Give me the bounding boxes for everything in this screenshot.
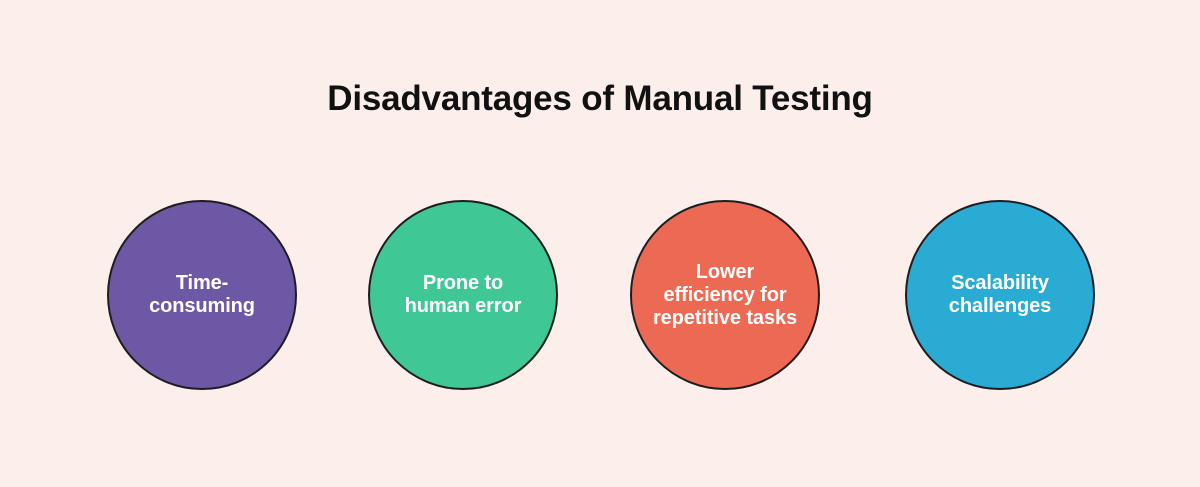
bubble-label-line: consuming	[127, 295, 277, 318]
bubble-label-line: repetitive tasks	[650, 307, 800, 330]
bubble-label-line: Lower	[650, 261, 800, 284]
bubble-label-line: Prone to	[388, 272, 538, 295]
infographic-canvas: Disadvantages of Manual Testing Time- co…	[0, 0, 1200, 487]
bubble-label-line: human error	[388, 295, 538, 318]
bubble-label-line: efficiency for	[650, 284, 800, 307]
bubble-label: Lower efficiency for repetitive tasks	[650, 261, 800, 330]
bubble-label-line: Time-	[127, 272, 277, 295]
bubble-row: Time- consuming Prone to human error Low…	[0, 200, 1200, 392]
bubble-lower-efficiency-for-repetitive-tasks: Lower efficiency for repetitive tasks	[630, 200, 820, 390]
page-title: Disadvantages of Manual Testing	[0, 78, 1200, 120]
bubble-prone-to-human-error: Prone to human error	[368, 200, 558, 390]
bubble-label: Time- consuming	[127, 272, 277, 318]
bubble-label-line: challenges	[925, 295, 1075, 318]
bubble-label: Prone to human error	[388, 272, 538, 318]
bubble-label: Scalability challenges	[925, 272, 1075, 318]
bubble-label-line: Scalability	[925, 272, 1075, 295]
bubble-time-consuming: Time- consuming	[107, 200, 297, 390]
bubble-scalability-challenges: Scalability challenges	[905, 200, 1095, 390]
